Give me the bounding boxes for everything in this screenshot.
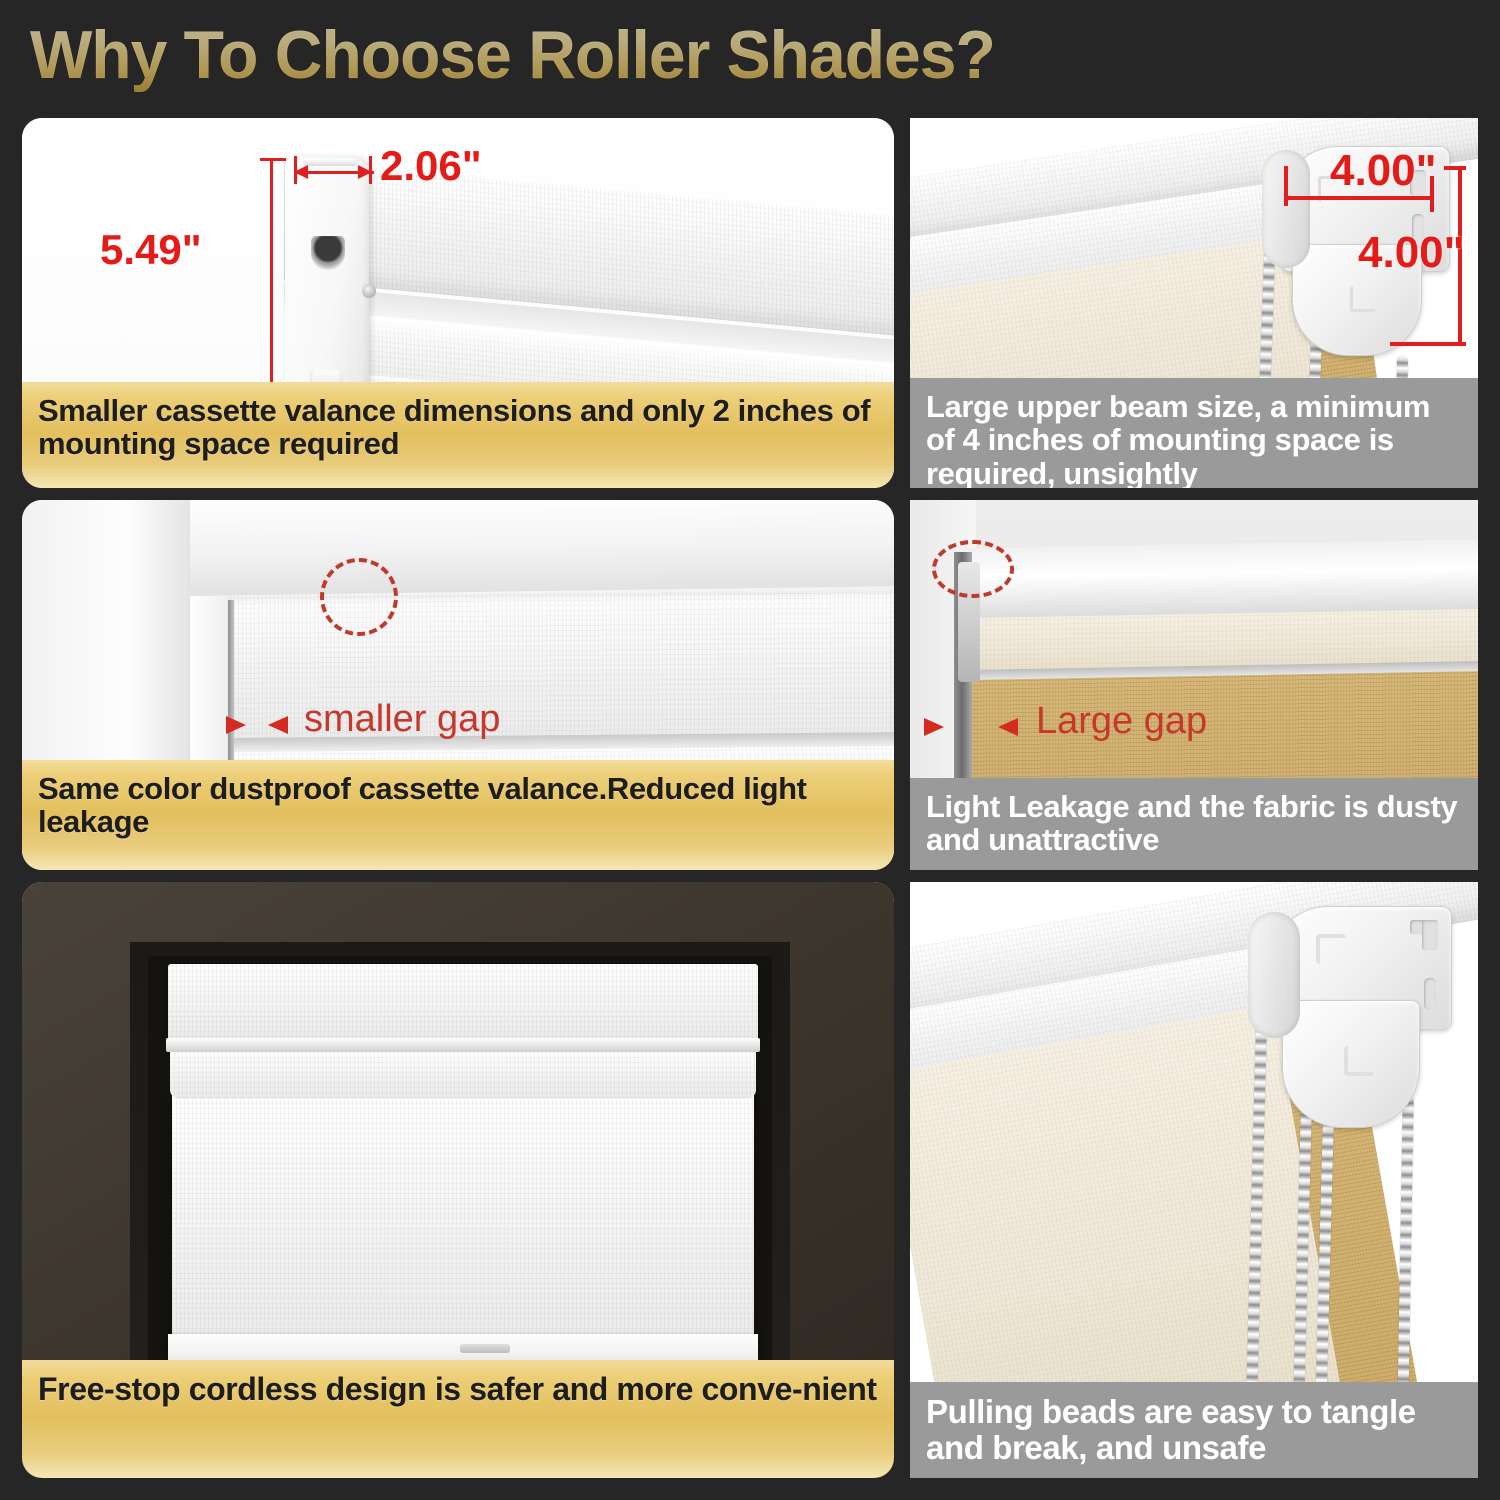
caption-panel-4: Light Leakage and the fabric is dusty an… — [910, 778, 1478, 870]
shade-fabric-body — [172, 1094, 754, 1344]
caption-panel-3: Same color dustproof cassette valance.Re… — [22, 760, 894, 870]
bracket-emblem-upper-icon — [1316, 934, 1346, 964]
window-frame-top — [190, 500, 894, 596]
gap-arrow-right — [268, 716, 288, 734]
gap-label-smaller: smaller gap — [304, 698, 500, 741]
panel-smaller-cassette: 2.06" 5.49" Smaller cassette valance dim… — [22, 118, 894, 488]
caption-panel-1: Smaller cassette valance dimensions and … — [22, 382, 894, 488]
caption-panel-5: Free-stop cordless design is safer and m… — [22, 1360, 894, 1478]
gap-arrow-left — [924, 718, 944, 736]
page-title: Why To Choose Roller Shades? — [30, 16, 995, 94]
height-dimension-label: 5.49" — [100, 226, 202, 274]
caption-text: Smaller cassette valance dimensions and … — [38, 394, 878, 461]
bracket-hook-slot-icon — [1422, 920, 1438, 950]
gap-label-large: Large gap — [1036, 700, 1207, 743]
caption-text: Large upper beam size, a minimum of 4 in… — [926, 390, 1462, 488]
end-cap-slot-icon — [311, 236, 345, 270]
end-cap-top-tab — [303, 159, 357, 166]
headrail-lip — [166, 1038, 760, 1052]
beam-width-label: 4.00" — [1330, 146, 1437, 196]
headrail-roll — [170, 1050, 756, 1098]
width-dimension-label: 2.06" — [380, 142, 482, 190]
beam-width-tick-left — [1284, 166, 1288, 206]
height-dim-tick-top — [260, 158, 286, 161]
bracket-side-slot-icon — [1424, 978, 1436, 1010]
caption-text: Free-stop cordless design is safer and m… — [38, 1372, 877, 1407]
caption-panel-6: Pulling beads are easy to tangle and bre… — [910, 1382, 1478, 1478]
panel-light-leakage: Large gap Light Leakage and the fabric i… — [910, 500, 1478, 870]
panel-pulling-beads: Pulling beads are easy to tangle and bre… — [910, 882, 1478, 1478]
beam-height-tick-bottom — [1390, 342, 1466, 346]
caption-panel-2: Large upper beam size, a minimum of 4 in… — [910, 378, 1478, 488]
highlight-circle — [320, 558, 398, 636]
caption-text: Light Leakage and the fabric is dusty an… — [926, 790, 1462, 857]
beam-height-tick-top — [1444, 166, 1466, 170]
gap-arrow-left-inner — [226, 716, 246, 734]
width-dim-arrow-left — [294, 165, 308, 179]
shade-headrail — [168, 964, 758, 1042]
width-dim-arrow-right — [358, 165, 372, 179]
beam-width-dim-line — [1286, 196, 1434, 200]
gap-arrow-right — [998, 718, 1018, 736]
caption-text: Same color dustproof cassette valance.Re… — [38, 772, 878, 839]
bracket-emblem-lower-icon — [1344, 1046, 1374, 1076]
panel-large-upper-beam: 4.00" 4.00" Large upper beam size, a min… — [910, 118, 1478, 488]
end-cap-screw-icon — [362, 284, 376, 298]
roller-end-ring — [1248, 912, 1300, 1038]
beam-height-label: 4.00" — [1358, 228, 1465, 278]
caption-text: Pulling beads are easy to tangle and bre… — [926, 1394, 1462, 1465]
panel-dustproof-valance: smaller gap Same color dustproof cassett… — [22, 500, 894, 870]
bracket-emblem-lower-icon — [1350, 286, 1376, 312]
panel-free-stop-cordless: Free-stop cordless design is safer and m… — [22, 882, 894, 1478]
highlight-circle — [932, 540, 1014, 598]
bottom-rail-grip — [460, 1344, 510, 1353]
title-bar: Why To Choose Roller Shades? — [0, 0, 1500, 112]
